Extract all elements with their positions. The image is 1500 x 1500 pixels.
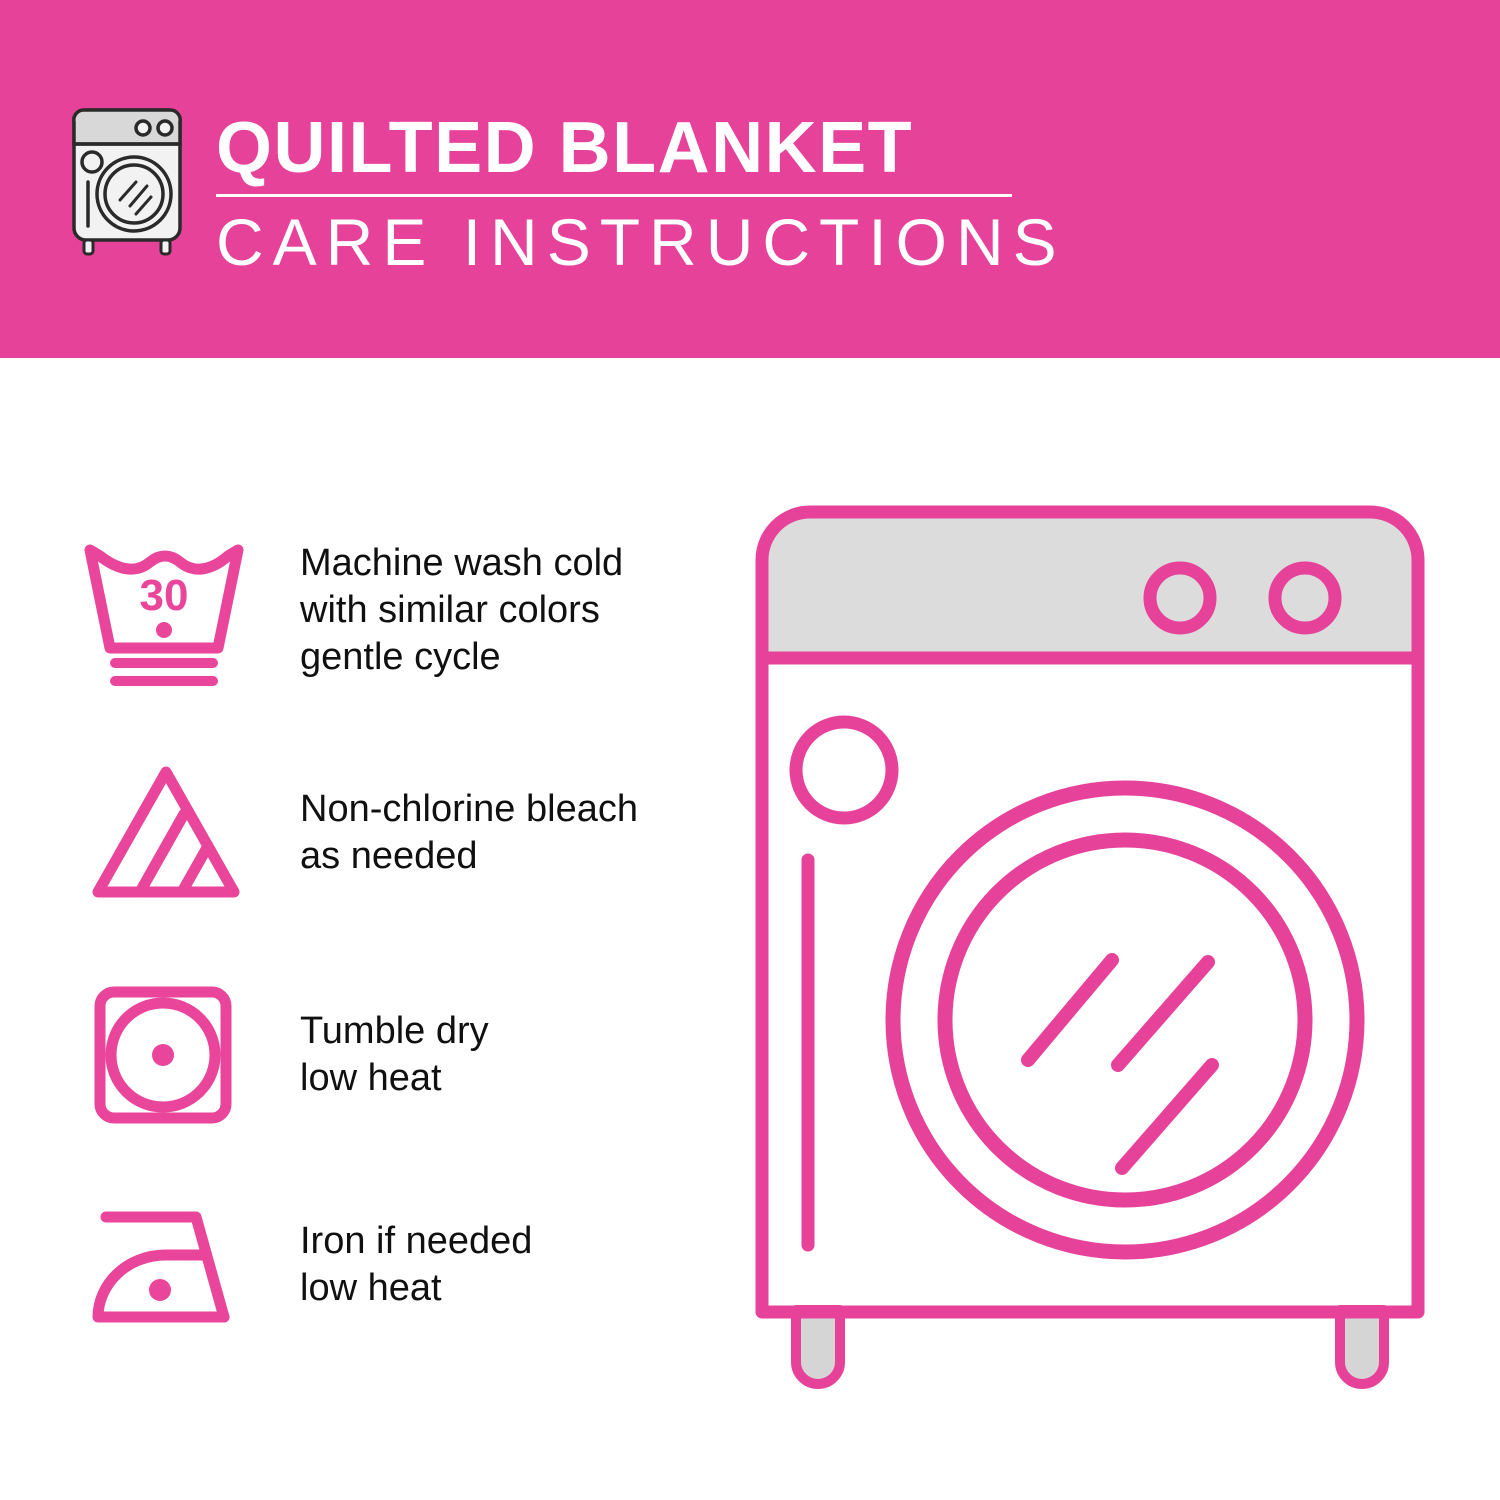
wash-tub-30-gentle-icon: 30 [60, 530, 290, 690]
instruction-line: with similar colors [300, 587, 720, 634]
washer-dispenser-circle [796, 722, 892, 818]
instruction-line: as needed [300, 833, 720, 880]
instruction-row-wash: 30 Machine wash cold with similar colors… [60, 500, 720, 720]
header-band: QUILTED BLANKET CARE INSTRUCTIONS [0, 0, 1500, 358]
washer-drum-stripes [1028, 960, 1212, 1168]
instruction-line: Tumble dry [300, 1008, 720, 1055]
instruction-row-tumble-dry: Tumble dry low heat [60, 945, 720, 1165]
title-divider [216, 194, 1012, 197]
iron-low-heat-icon [60, 1195, 290, 1335]
instruction-line: low heat [300, 1265, 720, 1312]
washer-drum-inner-ring [945, 840, 1305, 1200]
instruction-line: Machine wash cold [300, 540, 720, 587]
large-washing-machine-illustration [740, 490, 1440, 1420]
washer-leg-left [796, 1310, 840, 1384]
tumble-dry-low-icon [60, 980, 290, 1130]
washer-leg-right [1340, 1310, 1384, 1384]
care-instructions-poster: QUILTED BLANKET CARE INSTRUCTIONS 30 [0, 0, 1500, 1500]
instruction-row-iron: Iron if needed low heat [60, 1165, 720, 1365]
instruction-line: low heat [300, 1055, 720, 1102]
header-text-block: QUILTED BLANKET CARE INSTRUCTIONS [216, 108, 1016, 279]
instruction-line: Iron if needed [300, 1218, 720, 1265]
page-title: QUILTED BLANKET [216, 108, 1016, 188]
instruction-text-wash: Machine wash cold with similar colors ge… [290, 540, 720, 681]
washer-control-panel [762, 512, 1418, 658]
instruction-text-tumble-dry: Tumble dry low heat [290, 1008, 720, 1102]
instruction-text-bleach: Non-chlorine bleach as needed [290, 786, 720, 880]
wash-temperature-label: 30 [140, 571, 189, 620]
washing-machine-icon [66, 104, 188, 256]
washer-drum-outer-ring [893, 788, 1357, 1252]
page-subtitle: CARE INSTRUCTIONS [216, 205, 1016, 279]
instruction-text-iron: Iron if needed low heat [290, 1218, 720, 1312]
instruction-row-bleach: Non-chlorine bleach as needed [60, 720, 720, 945]
instruction-line: Non-chlorine bleach [300, 786, 720, 833]
instruction-list: 30 Machine wash cold with similar colors… [60, 500, 720, 1365]
instruction-line: gentle cycle [300, 634, 720, 681]
non-chlorine-bleach-triangle-icon [60, 758, 290, 908]
